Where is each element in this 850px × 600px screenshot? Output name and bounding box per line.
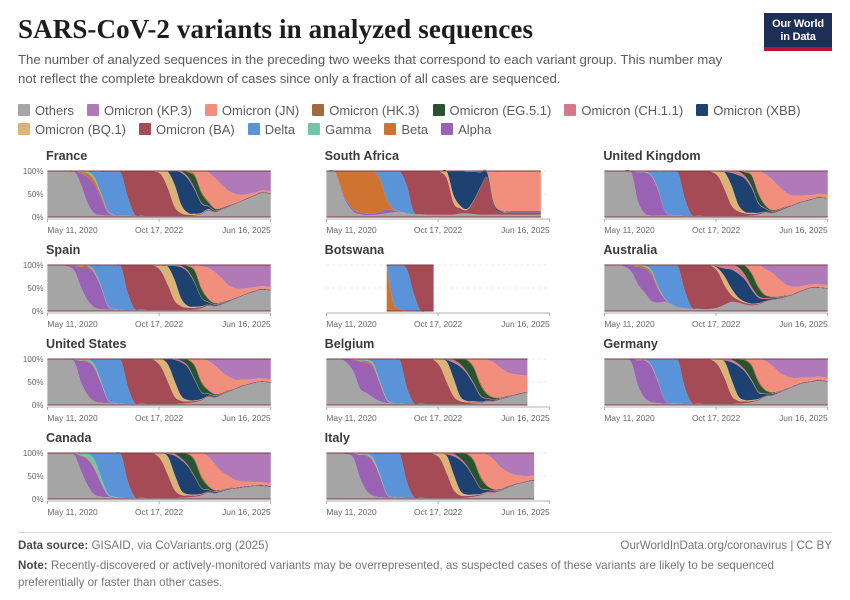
legend-item-label: Others bbox=[35, 103, 74, 118]
panel-chart-svg[interactable]: May 11, 2020Oct 17, 2022Jun 16, 2025 bbox=[297, 449, 554, 519]
legend-item-label: Omicron (CH.1.1) bbox=[581, 103, 683, 118]
x-axis-tick-label: Oct 17, 2022 bbox=[135, 413, 183, 423]
legend-swatch-icon bbox=[564, 104, 576, 116]
x-axis-tick-label: May 11, 2020 bbox=[326, 319, 377, 329]
panel-title: Canada bbox=[46, 431, 275, 446]
legend-item[interactable]: Omicron (CH.1.1) bbox=[564, 103, 683, 118]
country-panel[interactable]: United States100%50%0%May 11, 2020Oct 17… bbox=[18, 337, 275, 425]
legend-item[interactable]: Alpha bbox=[441, 122, 491, 137]
panel-title: Spain bbox=[46, 243, 275, 258]
x-axis-tick-label: Oct 17, 2022 bbox=[135, 507, 183, 517]
x-axis-tick-label: Jun 16, 2025 bbox=[779, 413, 828, 423]
owid-logo-line1: Our World bbox=[770, 18, 826, 31]
legend-swatch-icon bbox=[312, 104, 324, 116]
y-axis-tick-label: 50% bbox=[27, 284, 43, 293]
legend-item[interactable]: Beta bbox=[384, 122, 428, 137]
x-axis-tick-label: May 11, 2020 bbox=[326, 225, 377, 235]
y-axis-tick-label: 50% bbox=[27, 190, 43, 199]
x-axis-tick-label: Jun 16, 2025 bbox=[222, 507, 271, 517]
panel-title: Botswana bbox=[325, 243, 554, 258]
legend-item-label: Omicron (BQ.1) bbox=[35, 122, 126, 137]
panel-chart-svg[interactable]: 100%50%0%May 11, 2020Oct 17, 2022Jun 16,… bbox=[18, 167, 275, 237]
chart-legend: OthersOmicron (KP.3)Omicron (JN)Omicron … bbox=[18, 103, 832, 137]
x-axis-tick-label: Oct 17, 2022 bbox=[414, 413, 462, 423]
legend-item[interactable]: Delta bbox=[248, 122, 295, 137]
legend-item-label: Omicron (EG.5.1) bbox=[450, 103, 552, 118]
data-source-label: Data source: bbox=[18, 539, 88, 552]
panel-title: France bbox=[46, 149, 275, 164]
chart-header: SARS-CoV-2 variants in analyzed sequence… bbox=[18, 0, 832, 89]
legend-item[interactable]: Omicron (BQ.1) bbox=[18, 122, 126, 137]
x-axis-tick-label: Oct 17, 2022 bbox=[135, 319, 183, 329]
footer-source-row: Data source: GISAID, via CoVariants.org … bbox=[18, 539, 832, 552]
legend-item[interactable]: Omicron (XBB) bbox=[696, 103, 800, 118]
y-axis-tick-label: 100% bbox=[23, 167, 44, 176]
legend-swatch-icon bbox=[696, 104, 708, 116]
legend-item-label: Omicron (XBB) bbox=[713, 103, 800, 118]
legend-swatch-icon bbox=[18, 104, 30, 116]
x-axis-tick-label: Jun 16, 2025 bbox=[222, 413, 271, 423]
y-axis-tick-label: 0% bbox=[32, 495, 44, 504]
page-title: SARS-CoV-2 variants in analyzed sequence… bbox=[18, 14, 832, 45]
small-multiples-grid: France100%50%0%May 11, 2020Oct 17, 2022J… bbox=[18, 149, 832, 519]
panel-chart-svg[interactable]: May 11, 2020Oct 17, 2022Jun 16, 2025 bbox=[297, 261, 554, 331]
attribution-link[interactable]: OurWorldInData.org/coronavirus | CC BY bbox=[620, 539, 832, 552]
panel-title: Germany bbox=[603, 337, 832, 352]
legend-swatch-icon bbox=[433, 104, 445, 116]
chart-footer: Data source: GISAID, via CoVariants.org … bbox=[18, 532, 832, 592]
x-axis-tick-label: Jun 16, 2025 bbox=[779, 319, 828, 329]
page-subtitle: The number of analyzed sequences in the … bbox=[18, 51, 738, 88]
legend-item[interactable]: Gamma bbox=[308, 122, 371, 137]
legend-swatch-icon bbox=[18, 123, 30, 135]
country-panel[interactable]: Canada100%50%0%May 11, 2020Oct 17, 2022J… bbox=[18, 431, 275, 519]
legend-item[interactable]: Omicron (EG.5.1) bbox=[433, 103, 552, 118]
owid-logo[interactable]: Our World in Data bbox=[764, 13, 832, 51]
country-panel[interactable]: South AfricaMay 11, 2020Oct 17, 2022Jun … bbox=[297, 149, 554, 237]
legend-swatch-icon bbox=[248, 123, 260, 135]
x-axis-tick-label: Oct 17, 2022 bbox=[692, 413, 740, 423]
panel-chart-svg[interactable]: 100%50%0%May 11, 2020Oct 17, 2022Jun 16,… bbox=[18, 261, 275, 331]
x-axis-tick-label: May 11, 2020 bbox=[605, 319, 656, 329]
country-panel[interactable]: GermanyMay 11, 2020Oct 17, 2022Jun 16, 2… bbox=[575, 337, 832, 425]
legend-item-label: Omicron (KP.3) bbox=[104, 103, 192, 118]
panel-title: Belgium bbox=[325, 337, 554, 352]
x-axis-tick-label: May 11, 2020 bbox=[605, 413, 656, 423]
country-panel[interactable]: BelgiumMay 11, 2020Oct 17, 2022Jun 16, 2… bbox=[297, 337, 554, 425]
panel-chart-svg[interactable]: May 11, 2020Oct 17, 2022Jun 16, 2025 bbox=[297, 167, 554, 237]
country-panel[interactable]: United KingdomMay 11, 2020Oct 17, 2022Ju… bbox=[575, 149, 832, 237]
legend-swatch-icon bbox=[87, 104, 99, 116]
y-axis-tick-label: 50% bbox=[27, 378, 43, 387]
legend-item[interactable]: Omicron (BA) bbox=[139, 122, 235, 137]
legend-item-label: Omicron (JN) bbox=[222, 103, 299, 118]
country-panel[interactable]: BotswanaMay 11, 2020Oct 17, 2022Jun 16, … bbox=[297, 243, 554, 331]
legend-item[interactable]: Omicron (HK.3) bbox=[312, 103, 419, 118]
x-axis-tick-label: Jun 16, 2025 bbox=[501, 507, 550, 517]
country-panel[interactable]: AustraliaMay 11, 2020Oct 17, 2022Jun 16,… bbox=[575, 243, 832, 331]
data-source: Data source: GISAID, via CoVariants.org … bbox=[18, 539, 268, 552]
chart-page: SARS-CoV-2 variants in analyzed sequence… bbox=[0, 0, 850, 600]
data-source-value: GISAID, via CoVariants.org (2025) bbox=[88, 539, 268, 552]
x-axis-tick-label: Oct 17, 2022 bbox=[414, 507, 462, 517]
y-axis-tick-label: 100% bbox=[23, 261, 44, 270]
legend-item-label: Gamma bbox=[325, 122, 371, 137]
country-panel[interactable]: Spain100%50%0%May 11, 2020Oct 17, 2022Ju… bbox=[18, 243, 275, 331]
y-axis-tick-label: 0% bbox=[32, 213, 44, 222]
country-panel[interactable]: France100%50%0%May 11, 2020Oct 17, 2022J… bbox=[18, 149, 275, 237]
panel-title: Australia bbox=[603, 243, 832, 258]
y-axis-tick-label: 0% bbox=[32, 307, 44, 316]
panel-chart-svg[interactable]: May 11, 2020Oct 17, 2022Jun 16, 2025 bbox=[575, 261, 832, 331]
x-axis-tick-label: Jun 16, 2025 bbox=[501, 319, 550, 329]
x-axis-tick-label: May 11, 2020 bbox=[605, 225, 656, 235]
x-axis-tick-label: Oct 17, 2022 bbox=[692, 225, 740, 235]
x-axis-tick-label: Jun 16, 2025 bbox=[222, 225, 271, 235]
panel-chart-svg[interactable]: May 11, 2020Oct 17, 2022Jun 16, 2025 bbox=[297, 355, 554, 425]
legend-swatch-icon bbox=[441, 123, 453, 135]
x-axis-tick-label: Jun 16, 2025 bbox=[501, 413, 550, 423]
legend-item[interactable]: Omicron (JN) bbox=[205, 103, 299, 118]
panel-chart-svg[interactable]: 100%50%0%May 11, 2020Oct 17, 2022Jun 16,… bbox=[18, 355, 275, 425]
y-axis-tick-label: 50% bbox=[27, 472, 43, 481]
legend-item[interactable]: Omicron (KP.3) bbox=[87, 103, 192, 118]
y-axis-tick-label: 100% bbox=[23, 355, 44, 364]
legend-item-label: Alpha bbox=[458, 122, 491, 137]
legend-swatch-icon bbox=[308, 123, 320, 135]
y-axis-tick-label: 100% bbox=[23, 449, 44, 458]
country-panel[interactable]: ItalyMay 11, 2020Oct 17, 2022Jun 16, 202… bbox=[297, 431, 554, 519]
x-axis-tick-label: Oct 17, 2022 bbox=[414, 319, 462, 329]
x-axis-tick-label: May 11, 2020 bbox=[326, 507, 377, 517]
x-axis-tick-label: Jun 16, 2025 bbox=[222, 319, 271, 329]
legend-item-label: Delta bbox=[265, 122, 295, 137]
footer-note-label: Note: bbox=[18, 559, 48, 572]
legend-swatch-icon bbox=[139, 123, 151, 135]
x-axis-tick-label: May 11, 2020 bbox=[47, 225, 98, 235]
panel-title: United States bbox=[46, 337, 275, 352]
x-axis-tick-label: Jun 16, 2025 bbox=[779, 225, 828, 235]
panel-title: United Kingdom bbox=[603, 149, 832, 164]
x-axis-tick-label: Oct 17, 2022 bbox=[692, 319, 740, 329]
x-axis-tick-label: May 11, 2020 bbox=[47, 319, 98, 329]
x-axis-tick-label: May 11, 2020 bbox=[326, 413, 377, 423]
footer-note: Note: Recently-discovered or actively-mo… bbox=[18, 558, 808, 592]
x-axis-tick-label: Oct 17, 2022 bbox=[135, 225, 183, 235]
panel-title: South Africa bbox=[325, 149, 554, 164]
owid-logo-line2: in Data bbox=[770, 31, 826, 44]
panel-title: Italy bbox=[325, 431, 554, 446]
legend-item-label: Omicron (BA) bbox=[156, 122, 235, 137]
legend-swatch-icon bbox=[384, 123, 396, 135]
footer-note-text: Recently-discovered or actively-monitore… bbox=[18, 559, 774, 589]
x-axis-tick-label: Jun 16, 2025 bbox=[501, 225, 550, 235]
x-axis-tick-label: May 11, 2020 bbox=[47, 413, 98, 423]
legend-item[interactable]: Others bbox=[18, 103, 74, 118]
x-axis-tick-label: Oct 17, 2022 bbox=[414, 225, 462, 235]
panel-chart-svg[interactable]: May 11, 2020Oct 17, 2022Jun 16, 2025 bbox=[575, 167, 832, 237]
x-axis-tick-label: May 11, 2020 bbox=[47, 507, 98, 517]
y-axis-tick-label: 0% bbox=[32, 401, 44, 410]
footer-divider bbox=[18, 532, 832, 533]
legend-item-label: Omicron (HK.3) bbox=[329, 103, 419, 118]
legend-swatch-icon bbox=[205, 104, 217, 116]
panel-chart-svg[interactable]: May 11, 2020Oct 17, 2022Jun 16, 2025 bbox=[575, 355, 832, 425]
legend-item-label: Beta bbox=[401, 122, 428, 137]
panel-chart-svg[interactable]: 100%50%0%May 11, 2020Oct 17, 2022Jun 16,… bbox=[18, 449, 275, 519]
